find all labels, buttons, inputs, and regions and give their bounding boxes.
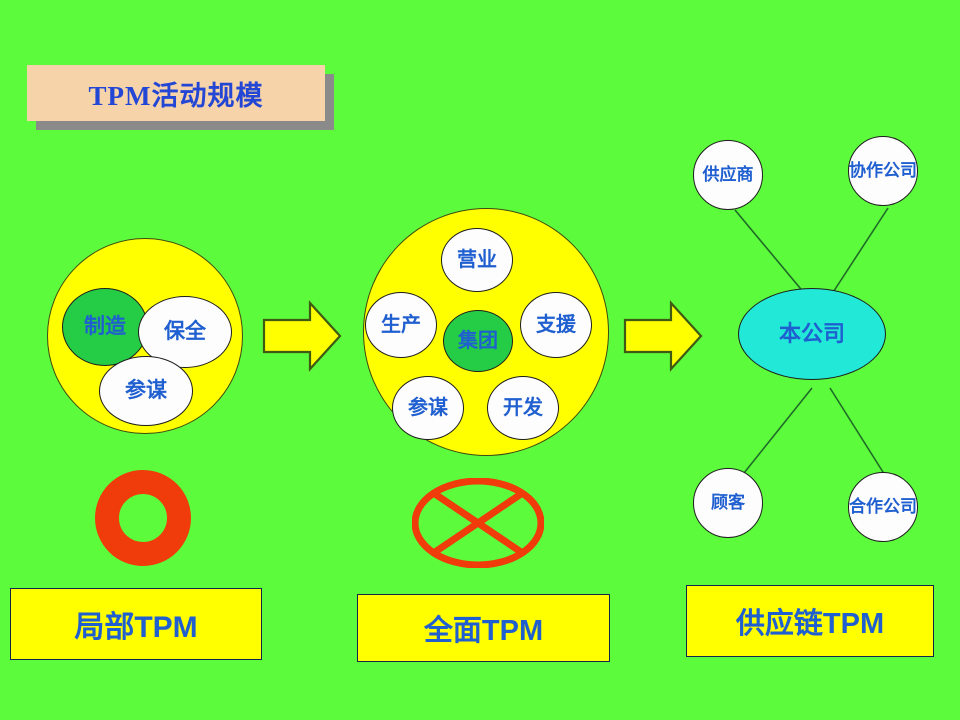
group2-bubble-label: 开发 — [503, 398, 543, 419]
group3-center-label: 本公司 — [779, 322, 845, 345]
group2-bubble-label: 支援 — [536, 315, 576, 336]
group2-bubble-label: 营业 — [457, 250, 497, 271]
group3-node-customer: 顾客 — [693, 468, 763, 538]
group3-node-label: 协作公司 — [849, 162, 917, 180]
label-text: 局部TPM — [74, 602, 197, 646]
label-text: 供应链TPM — [736, 600, 884, 642]
group1-bubble-manufacturing: 制造 — [62, 288, 148, 366]
label-text: 全面TPM — [424, 607, 543, 649]
circle-cross-mark-icon — [412, 478, 544, 568]
group3-node-label: 合作公司 — [849, 498, 917, 516]
group3-node-partner-company: 协作公司 — [848, 136, 918, 206]
group2-bubble-label: 集团 — [458, 331, 498, 352]
group2-bubble-label: 参谋 — [408, 398, 448, 419]
group3-node-label: 供应商 — [703, 166, 754, 184]
label-box-total-tpm[interactable]: 全面TPM — [357, 594, 610, 662]
label-box-local-tpm[interactable]: 局部TPM — [10, 588, 262, 660]
group1-bubble-label: 参谋 — [125, 380, 167, 402]
group1-bubble-label: 保全 — [164, 321, 206, 343]
slide-canvas: TPM活动规模 制造 保全 参谋 营业 生产 支援 参谋 开发 集团 — [0, 0, 960, 720]
group3-node-label: 顾客 — [711, 494, 745, 512]
title-box: TPM活动规模 — [27, 65, 325, 121]
group2-bubble-sales: 营业 — [441, 228, 513, 292]
group3-node-supplier: 供应商 — [693, 140, 763, 210]
group2-bubble-support: 支援 — [520, 292, 592, 358]
group3-center-company: 本公司 — [738, 288, 886, 380]
page-title: TPM活动规模 — [89, 74, 264, 113]
group2-bubble-staff: 参谋 — [392, 376, 464, 440]
circle-ok-mark-icon — [95, 470, 191, 566]
group1-bubble-label: 制造 — [84, 316, 126, 338]
right-arrow-icon-1 — [262, 300, 342, 372]
group2-bubble-development: 开发 — [487, 376, 559, 440]
group1-bubble-staff: 参谋 — [99, 356, 193, 426]
label-box-supply-chain-tpm[interactable]: 供应链TPM — [686, 585, 934, 657]
group3-node-alliance-company: 合作公司 — [848, 472, 918, 542]
group2-bubble-group: 集团 — [443, 310, 513, 372]
group2-bubble-label: 生产 — [381, 315, 421, 336]
group2-bubble-production: 生产 — [365, 292, 437, 358]
